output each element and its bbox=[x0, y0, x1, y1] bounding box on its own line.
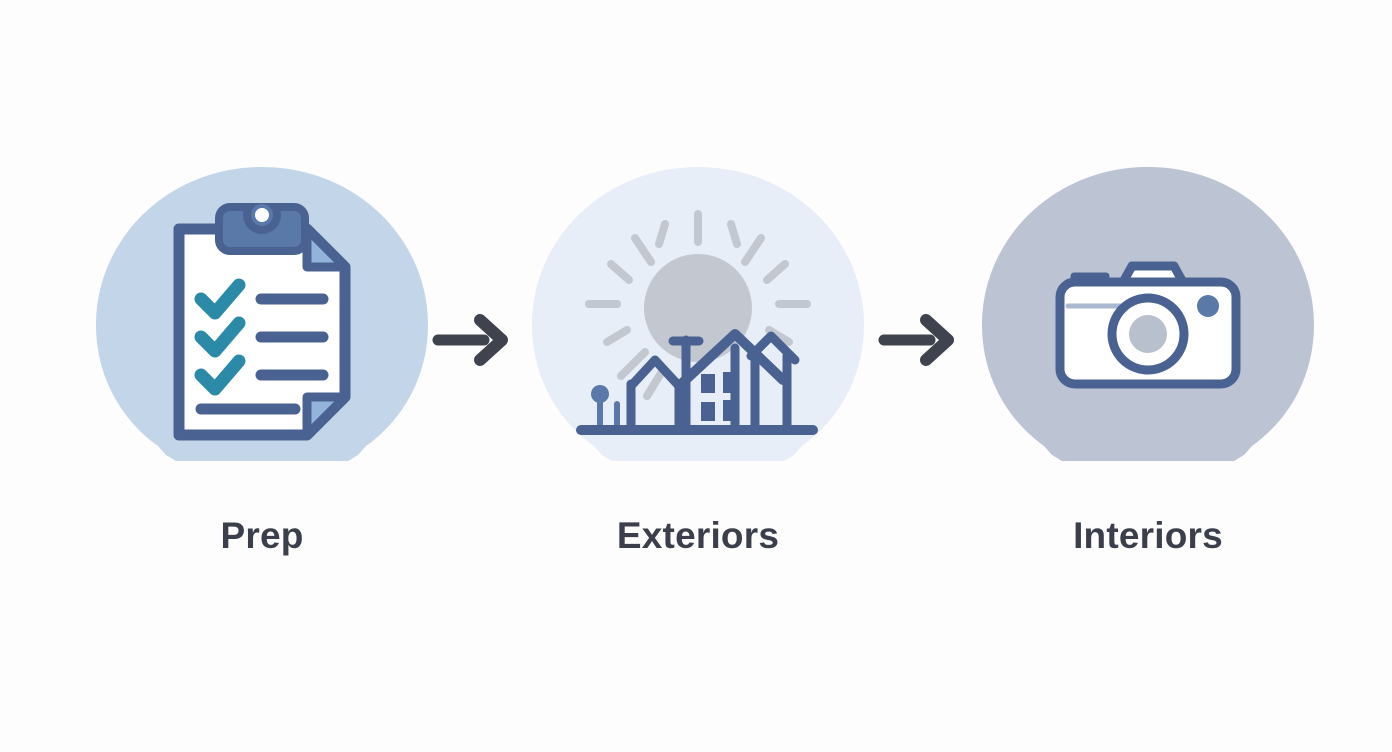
workflow-flow: Prep bbox=[0, 0, 1392, 752]
arrow-prep-to-exteriors bbox=[432, 310, 512, 370]
clipboard-checklist-icon bbox=[157, 203, 367, 447]
workflow-step-interiors[interactable]: Interiors bbox=[978, 165, 1318, 554]
camera-icon bbox=[1048, 250, 1248, 400]
workflow-step-prep[interactable]: Prep bbox=[92, 165, 432, 554]
step-icon-circle-interiors bbox=[980, 165, 1316, 485]
step-label-interiors: Interiors bbox=[1073, 517, 1223, 554]
step-icon-circle-exteriors bbox=[530, 165, 866, 485]
diagram-canvas: Prep bbox=[0, 0, 1392, 752]
workflow-step-exteriors[interactable]: Exteriors bbox=[528, 165, 868, 554]
step-label-prep: Prep bbox=[220, 517, 303, 554]
step-icon-circle-prep bbox=[94, 165, 430, 485]
step-label-exteriors: Exteriors bbox=[617, 517, 779, 554]
arrow-exteriors-to-interiors bbox=[878, 310, 958, 370]
sun-over-houses-icon bbox=[573, 200, 823, 450]
